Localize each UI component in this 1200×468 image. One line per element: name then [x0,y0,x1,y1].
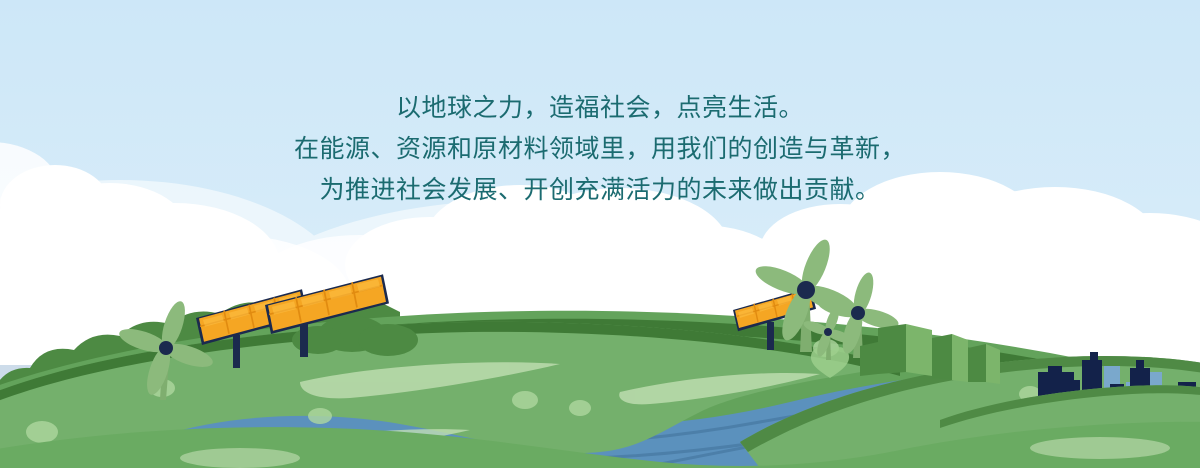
eco-mission-banner: 以地球之力，造福社会，点亮生活。 在能源、资源和原材料领域里，用我们的创造与革新… [0,0,1200,468]
illustration-scene [0,0,1200,468]
